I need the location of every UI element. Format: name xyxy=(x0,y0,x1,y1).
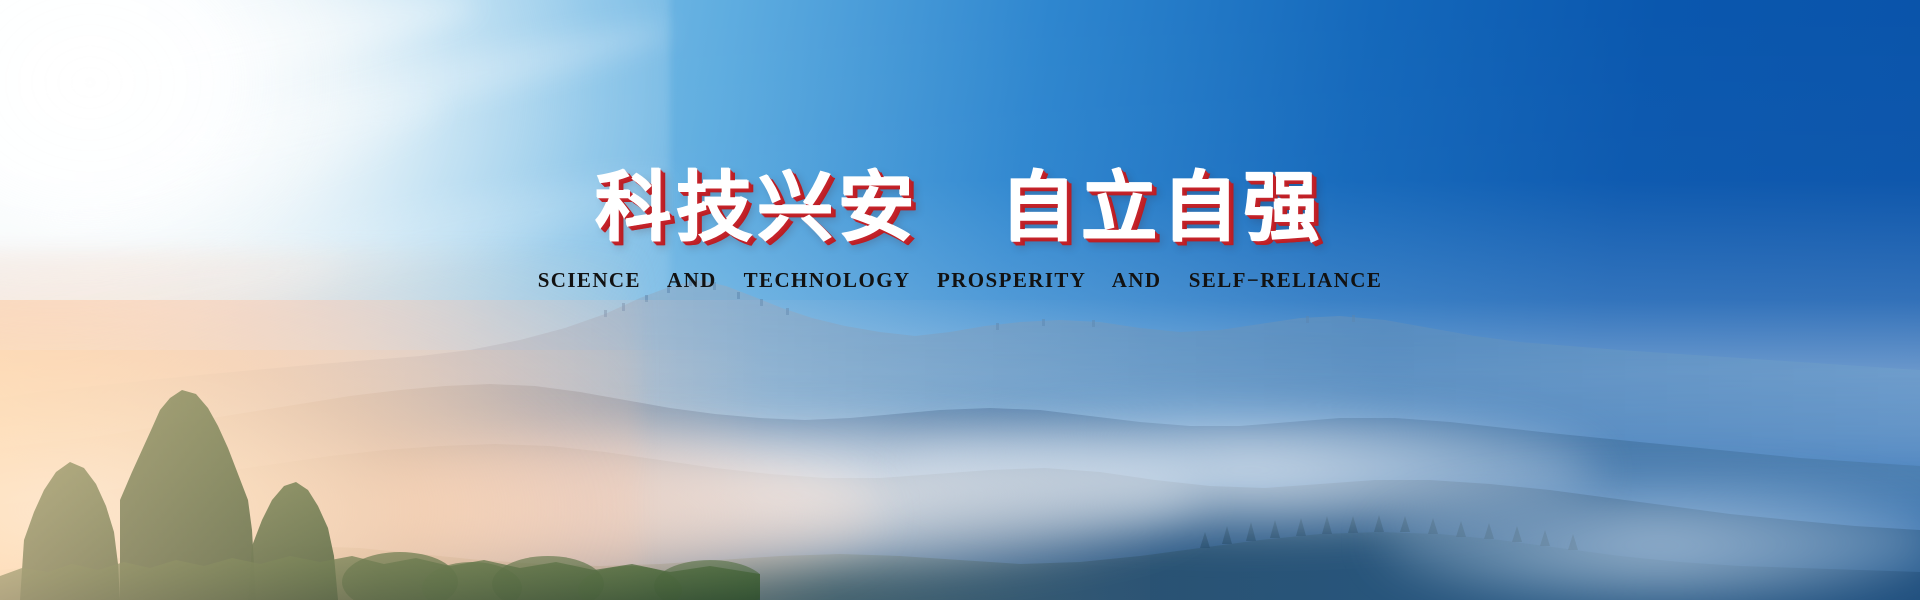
hero-banner: 科技兴安 自立自强 SCIENCE AND TECHNOLOGY PROSPER… xyxy=(0,0,1920,600)
banner-main-title: 科技兴安 自立自强 xyxy=(0,170,1920,246)
foreground-trees xyxy=(0,350,760,600)
banner-text-block: 科技兴安 自立自强 SCIENCE AND TECHNOLOGY PROSPER… xyxy=(0,170,1920,293)
banner-sub-title: SCIENCE AND TECHNOLOGY PROSPERITY AND SE… xyxy=(0,268,1920,293)
